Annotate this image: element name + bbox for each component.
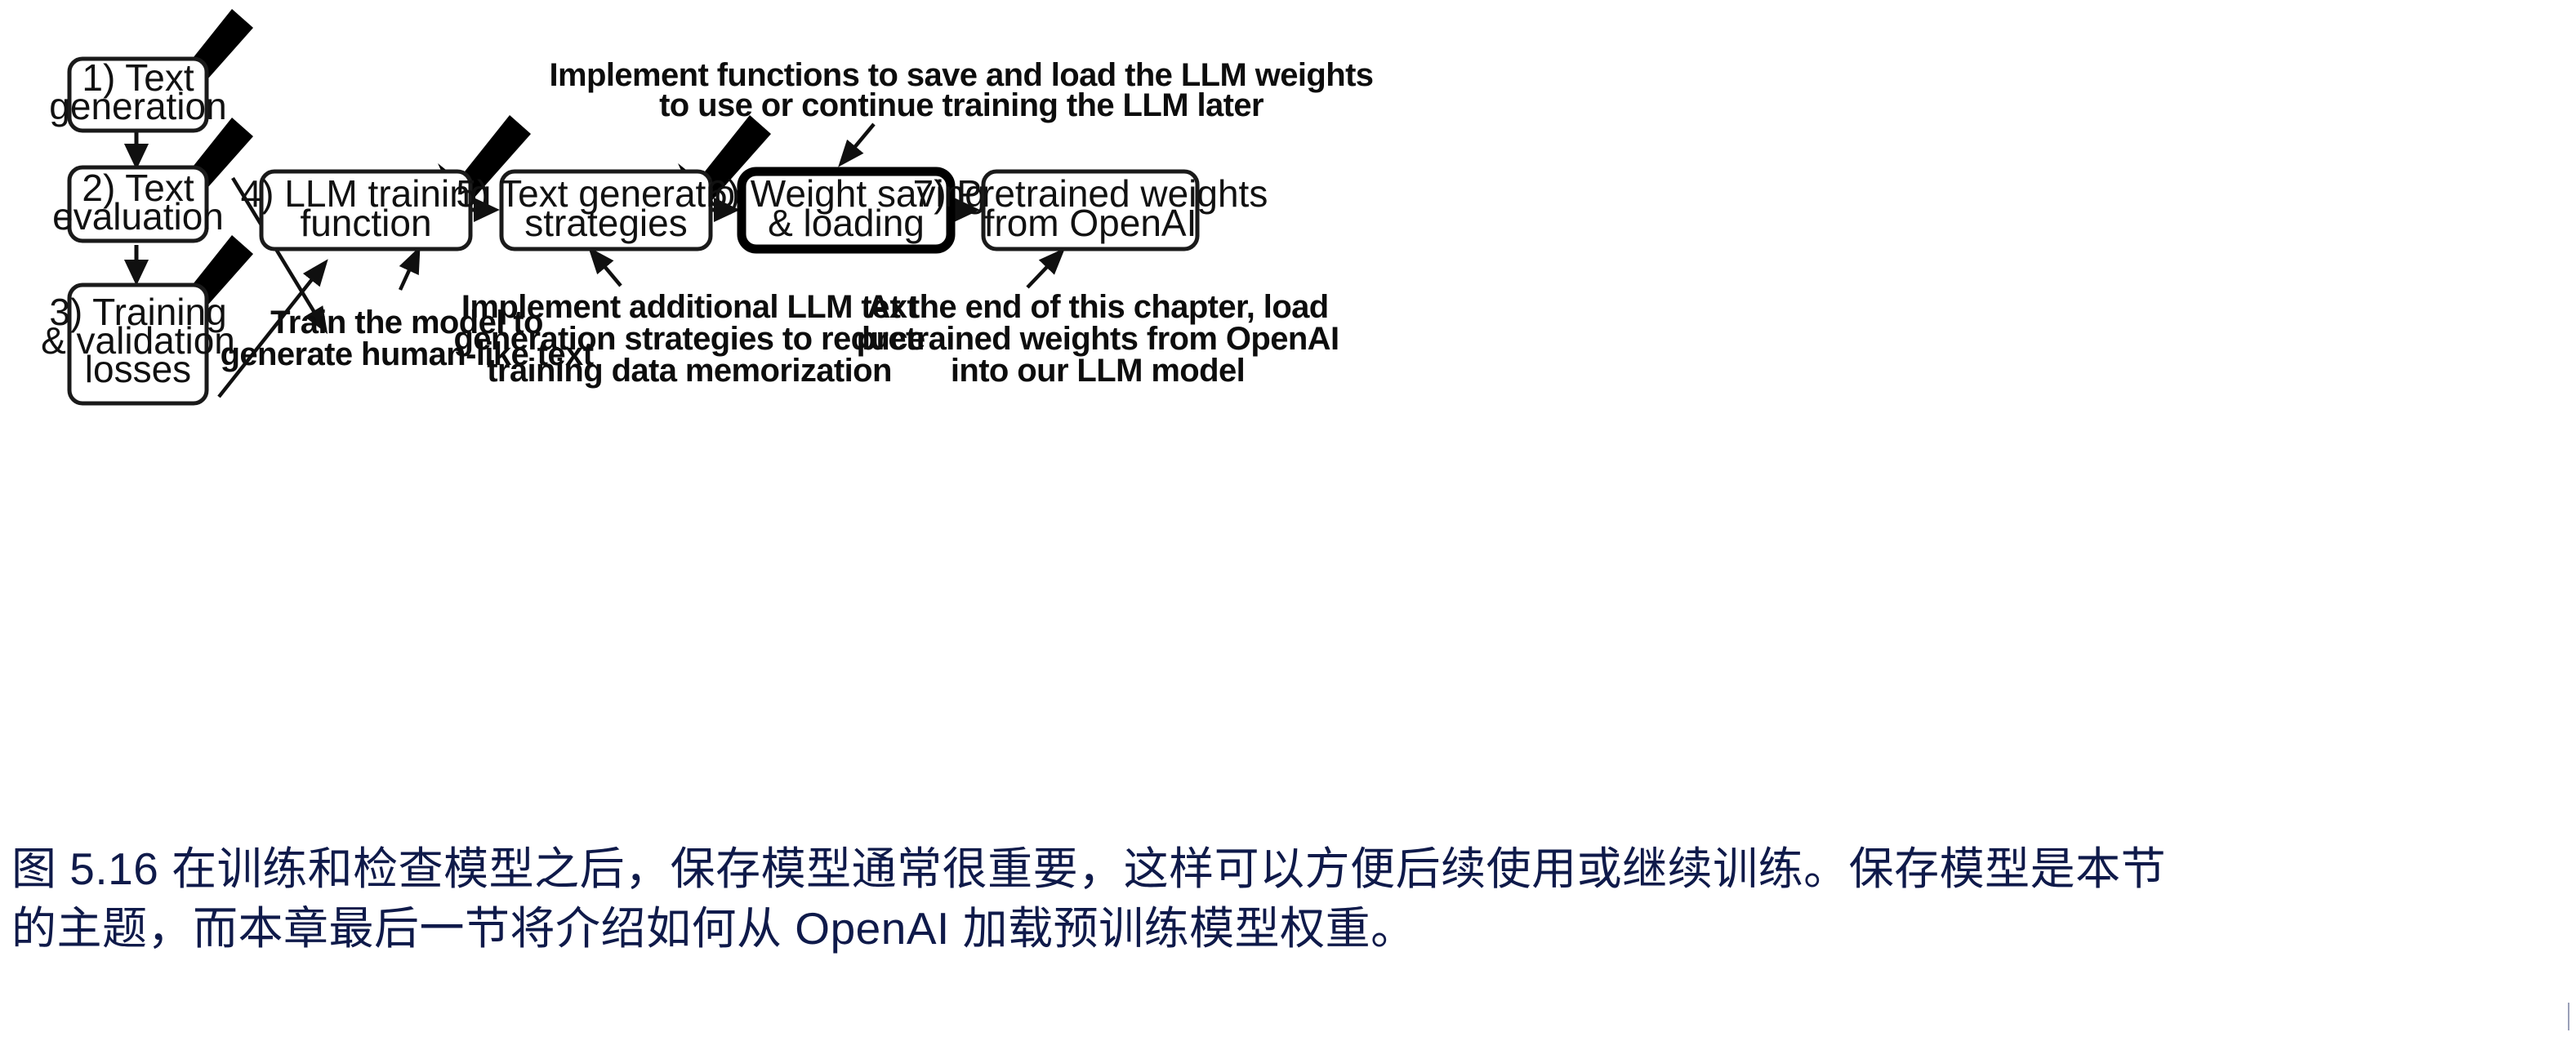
annotation-strategies-line3: training data memorization (487, 353, 892, 389)
annotation-openai-line2: pretrained weights from OpenAI (857, 321, 1339, 357)
annotation-strategies-line1: Implement additional LLM text (461, 289, 917, 325)
page-edge-tick (2568, 1003, 2569, 1030)
node-5-label-line2: strategies (524, 202, 687, 244)
node-4-llm-training-function[interactable]: 4) LLM training function (241, 171, 492, 249)
figure-caption-line2: 的主题，而本章最后一节将介绍如何从 OpenAI 加载预训练模型权重。 (11, 899, 2565, 959)
annotation-weights: Implement functions to save and load the… (550, 57, 1374, 123)
leader-annotation-train (400, 251, 418, 290)
node-3-label-line3: losses (85, 348, 191, 390)
node-2-label-line2: evaluation (52, 195, 224, 238)
annotation-strategies-line2: generation strategies to reduce (453, 321, 925, 357)
node-7-pretrained-weights-openai[interactable]: 7) Pretrained weights from OpenAI (913, 171, 1268, 249)
annotation-openai-line1: At the end of this chapter, load (867, 289, 1328, 325)
leader-annotation-openai (1027, 251, 1062, 287)
annotation-strategies: Implement additional LLM text generation… (453, 289, 925, 389)
node-2-text-evaluation[interactable]: 2) Text evaluation (52, 167, 224, 241)
figure-caption-line1: 图 5.16 在训练和检查模型之后，保存模型通常很重要，这样可以方便后续使用或继… (11, 839, 2565, 899)
node-6-label-line2: & loading (768, 202, 925, 244)
figure-caption: 图 5.16 在训练和检查模型之后，保存模型通常很重要，这样可以方便后续使用或继… (0, 839, 2576, 958)
node-7-label-line2: from OpenAI (984, 202, 1197, 244)
node-1-label-line2: generation (49, 85, 226, 127)
node-1-text-generation[interactable]: 1) Text generation (49, 56, 226, 131)
annotation-openai: At the end of this chapter, load pretrai… (857, 289, 1339, 389)
annotation-openai-line3: into our LLM model (951, 353, 1245, 389)
flowchart-diagram: 1) Text generation 2) Text evaluation 3)… (0, 0, 2576, 841)
node-3-training-validation-losses[interactable]: 3) Training & validation losses (41, 285, 235, 403)
figure-root: 1) Text generation 2) Text evaluation 3)… (0, 0, 2576, 1050)
leader-annotation-strategies (591, 251, 621, 286)
leader-annotation-weights (841, 124, 874, 163)
node-4-label-line2: function (300, 202, 431, 244)
annotation-weights-line2: to use or continue training the LLM late… (659, 87, 1263, 123)
